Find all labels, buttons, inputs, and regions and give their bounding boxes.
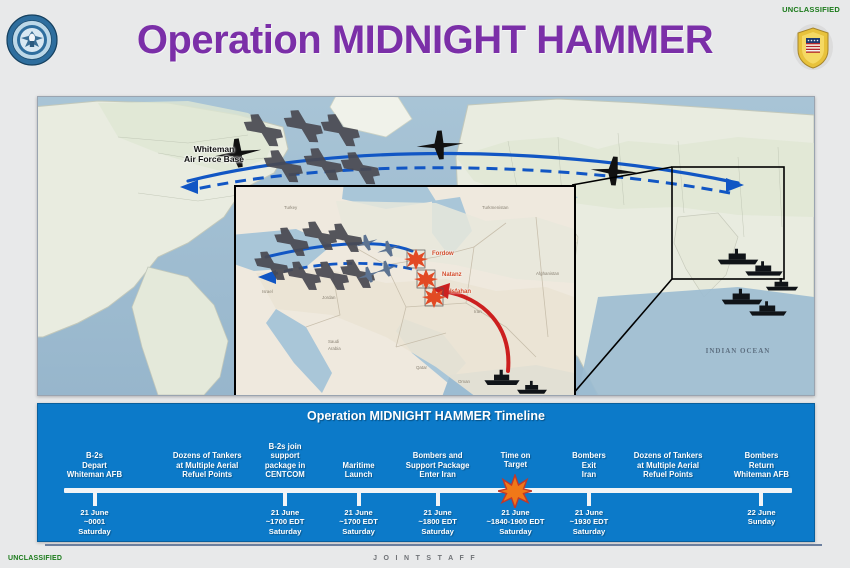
svg-text:Afghanistan: Afghanistan (536, 271, 560, 276)
timeline-event-timestamp: 22 JuneSunday (747, 508, 775, 527)
timeline-event-timestamp: 21 June~1700 EDTSaturday (266, 508, 305, 536)
timeline-tick (587, 488, 591, 506)
svg-text:Turkey: Turkey (284, 205, 298, 210)
svg-text:Israel: Israel (262, 289, 273, 294)
timeline-axis (64, 488, 792, 493)
timeline-event-label: B-2sDepartWhiteman AFB (67, 451, 122, 480)
timeline-event-label: MaritimeLaunch (343, 461, 375, 480)
target-label-fordow: Fordow (432, 251, 454, 257)
slide: UNCLASSIFIED (0, 0, 850, 568)
timeline-panel: Operation MIDNIGHT HAMMER Timeline B-2sD… (37, 403, 815, 542)
timeline-event-label: Dozens of Tankersat Multiple AerialRefue… (173, 451, 242, 480)
timeline-event-timestamp: 21 June~1930 EDTSaturday (570, 508, 609, 536)
timeline-event-timestamp: 21 June~1700 EDTSaturday (339, 508, 378, 536)
svg-text:Turkmenistan: Turkmenistan (482, 205, 509, 210)
timeline-title: Operation MIDNIGHT HAMMER Timeline (38, 409, 814, 423)
svg-text:INDIAN OCEAN: INDIAN OCEAN (706, 347, 771, 355)
timeline-event-label: Bombers andSupport PackageEnter Iran (406, 451, 470, 480)
timeline-tick (436, 488, 440, 506)
timeline-tick (283, 488, 287, 506)
timeline-event-label: BombersReturnWhiteman AFB (734, 451, 789, 480)
producing-organization: J O I N T S T A F F (0, 555, 850, 562)
middle-east-inset-map: Turkey Turkmenistan Afghanistan Jordan S… (234, 185, 576, 396)
target-label-natanz: Natanz (442, 272, 462, 278)
timeline-event-label: Time onTarget (501, 451, 531, 470)
footer-divider (45, 544, 822, 546)
timeline-tick (357, 488, 361, 506)
timeline-tick (759, 488, 763, 506)
svg-text:Jordan: Jordan (322, 295, 336, 300)
timeline-event-label: B-2s joinsupportpackage inCENTCOM (265, 442, 305, 480)
operation-map: NORTH ATLANTIC OCEAN INDIAN OCEAN (37, 96, 815, 396)
timeline-tick (93, 488, 97, 506)
time-on-target-burst-icon (498, 474, 532, 508)
timeline-event-timestamp: 21 June~1800 EDTSaturday (418, 508, 457, 536)
page-title: Operation MIDNIGHT HAMMER (0, 18, 850, 63)
svg-text:Arabia: Arabia (328, 346, 341, 351)
timeline-event-timestamp: 21 June~1840-1900 EDTSaturday (486, 508, 544, 536)
classification-top: UNCLASSIFIED (782, 5, 840, 14)
timeline-event-timestamp: 21 June~0001Saturday (78, 508, 111, 536)
svg-text:Iran: Iran (474, 309, 482, 314)
svg-text:Qatar: Qatar (416, 365, 428, 370)
timeline-event-label: BombersExitIran (572, 451, 606, 480)
svg-text:Oman: Oman (458, 379, 471, 384)
target-label-isfahan: Isfahan (450, 289, 471, 295)
timeline-event-label: Dozens of Tankersat Multiple AerialRefue… (634, 451, 703, 480)
svg-text:Saudi: Saudi (328, 339, 339, 344)
